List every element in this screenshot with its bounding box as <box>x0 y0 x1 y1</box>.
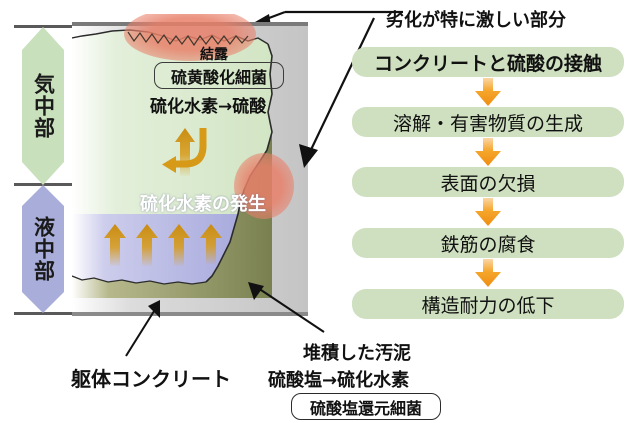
flow-step-1: 溶解・有害物質の生成 <box>352 107 624 137</box>
zone-liquid-arrow: 液中部 <box>21 184 65 314</box>
pipe-cross-section: 結露 硫黄酸化細菌 硫化水素→硫酸 硫化水素の発生 <box>72 14 308 320</box>
flow-step-2: 表面の欠損 <box>352 167 624 197</box>
callout-severe-deterioration: 劣化が特に激しい部分 <box>386 6 566 32</box>
flow-step-0: コンクリートと硫酸の接触 <box>352 47 624 77</box>
leader-body-concrete <box>118 300 178 360</box>
label-condensation: 結露 <box>200 44 228 64</box>
flow-step-3: 鉄筋の腐食 <box>352 228 624 258</box>
callout-sludge-line2: 硫酸塩→硫化水素 <box>268 366 409 392</box>
zone-liquid-label: 液中部 <box>33 216 54 282</box>
flow-arrow-3 <box>474 259 502 288</box>
leader-severe-2 <box>286 16 386 171</box>
box-sulfur-bacteria: 硫黄酸化細菌 <box>154 62 284 89</box>
box-sulfate-reducing-bacteria-label: 硫酸塩還元細菌 <box>310 395 422 419</box>
callout-body-concrete: 躯体コンクリート <box>71 363 231 392</box>
box-sulfate-reducing-bacteria: 硫酸塩還元細菌 <box>291 393 441 420</box>
leader-sludge <box>238 280 334 336</box>
zone-air-label: 気中部 <box>33 73 54 139</box>
flow-arrow-2 <box>474 198 502 227</box>
label-h2s-generation: 硫化水素の発生 <box>140 190 266 216</box>
zone-air-arrow: 気中部 <box>21 26 65 186</box>
flow-step-3-label: 鉄筋の腐食 <box>440 230 535 257</box>
flow-arrow-1 <box>474 138 502 167</box>
flow-step-1-label: 溶解・有害物質の生成 <box>393 109 583 136</box>
cross-section-svg <box>72 14 308 320</box>
flow-step-2-label: 表面の欠損 <box>440 169 535 196</box>
flow-step-0-label: コンクリートと硫酸の接触 <box>374 49 602 76</box>
diagram-canvas: 気中部 液中部 <box>0 0 628 423</box>
flow-step-4: 構造耐力の低下 <box>352 289 624 319</box>
flow-arrow-0 <box>474 78 502 107</box>
box-sulfur-bacteria-label: 硫黄酸化細菌 <box>171 64 267 88</box>
flow-step-4-label: 構造耐力の低下 <box>421 291 554 318</box>
callout-sludge-line1: 堆積した汚泥 <box>303 339 411 365</box>
label-reaction-air: 硫化水素→硫酸 <box>150 92 266 117</box>
